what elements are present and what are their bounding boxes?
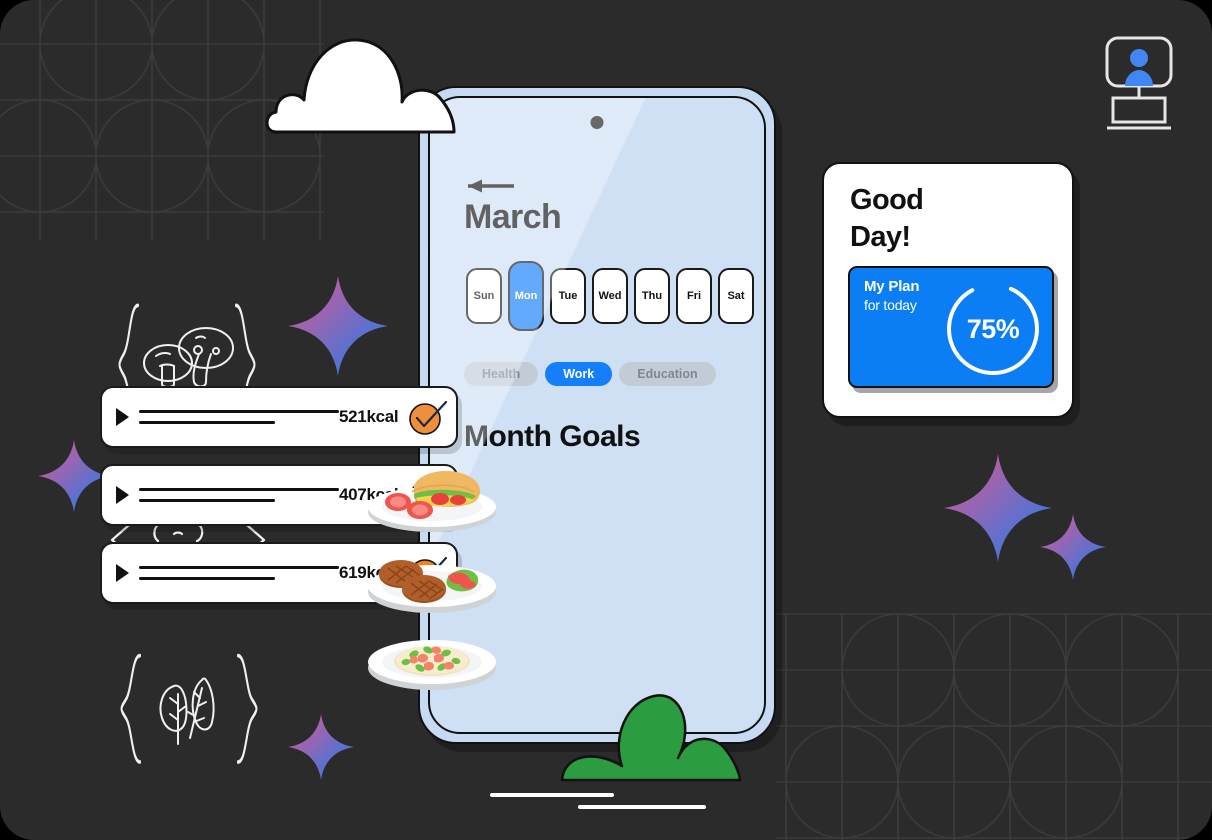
poster-canvas: March Sun Mon Tue Wed Thu Fri Sat Health… (0, 0, 1212, 840)
progress-percent: 75% (940, 276, 1046, 382)
goal-text-placeholder (139, 566, 339, 580)
progress-ring: 75% (940, 276, 1046, 382)
day-chip-mon[interactable]: Mon (508, 261, 544, 331)
day-chip-thu[interactable]: Thu (634, 268, 670, 324)
goal-text-placeholder (139, 488, 339, 502)
check-badge-icon[interactable] (408, 400, 442, 434)
decorative-line (578, 805, 706, 809)
day-selector[interactable]: Sun Mon Tue Wed Thu Fri Sat (466, 268, 754, 331)
goal-text-placeholder (139, 410, 339, 424)
pill-education[interactable]: Education (619, 362, 715, 386)
goal-calories: 521kcal (339, 407, 398, 427)
sparkle-icon (288, 276, 388, 376)
pill-work[interactable]: Work (545, 362, 612, 386)
camera-dot-icon (591, 116, 604, 129)
day-chip-wed[interactable]: Wed (592, 268, 628, 324)
day-chip-sun[interactable]: Sun (466, 268, 502, 324)
card-title: Good Day! (850, 182, 923, 256)
page-title: March (464, 198, 561, 237)
goal-row[interactable]: 521kcal (100, 386, 458, 448)
shrimp-pea-risotto-plate (366, 620, 498, 696)
back-arrow-icon[interactable] (466, 178, 516, 199)
play-triangle-icon[interactable] (116, 486, 129, 504)
pill-health[interactable]: Health (464, 362, 538, 386)
day-chip-sat[interactable]: Sat (718, 268, 754, 324)
sparkle-icon (288, 714, 354, 780)
section-title-month-goals: Month Goals (464, 420, 640, 454)
day-chip-tue[interactable]: Tue (550, 268, 586, 324)
sparkle-icon (1040, 514, 1106, 580)
play-triangle-icon[interactable] (116, 564, 129, 582)
good-day-card: Good Day! My Plan for today 75% (822, 162, 1074, 418)
my-plan-widget[interactable]: My Plan for today 75% (848, 266, 1054, 388)
video-presentation-person-icon[interactable] (1103, 36, 1175, 137)
background-grid-bottom-right (776, 600, 1212, 840)
plan-label: My Plan (864, 278, 919, 295)
sparkle-icon (944, 454, 1052, 562)
decorative-line (490, 793, 614, 797)
grilled-steak-salad-plate (366, 540, 498, 616)
category-filter[interactable]: Health Work Education (464, 362, 716, 386)
sandwich-with-tomato-plate (366, 458, 498, 534)
green-bush-shape (550, 690, 746, 793)
spinach-leaves-icon (116, 648, 262, 774)
play-triangle-icon[interactable] (116, 408, 129, 426)
cloud-shape (262, 28, 490, 143)
day-chip-fri[interactable]: Fri (676, 268, 712, 324)
plan-subtitle: for today (864, 297, 917, 313)
